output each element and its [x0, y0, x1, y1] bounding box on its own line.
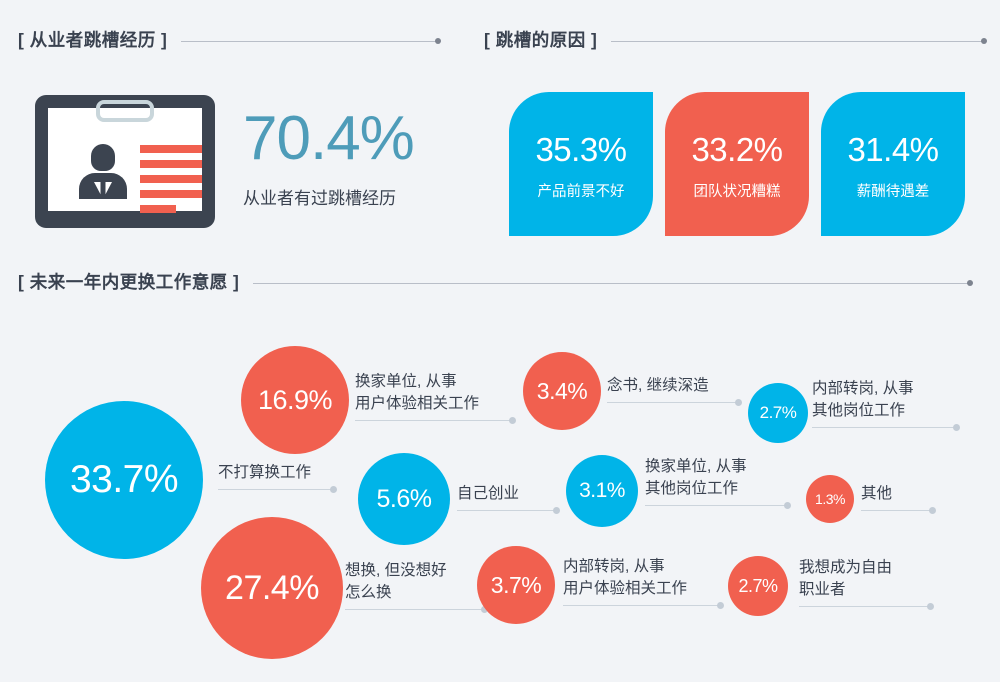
- section-header-employment-history: [ 从业者跳槽经历 ]: [18, 26, 438, 52]
- reason-card-label: 团队状况糟糕: [694, 180, 781, 201]
- bubble[interactable]: 3.4%: [523, 352, 601, 430]
- bubble-value: 27.4%: [225, 569, 319, 608]
- badge-clip: [96, 100, 154, 122]
- badge-card: [48, 108, 202, 211]
- bubble-label: 念书, 继续深造: [607, 375, 739, 403]
- bubble-value: 2.7%: [760, 403, 797, 423]
- reason-card-value: 35.3%: [535, 133, 626, 166]
- bubble-label-rule: [861, 510, 933, 511]
- badge-line: [140, 190, 202, 198]
- bubble-value: 3.1%: [579, 479, 625, 503]
- bubble-label-text: 换家单位, 从事 其他岗位工作: [645, 456, 788, 505]
- section-title: [ 未来一年内更换工作意愿 ]: [18, 269, 239, 294]
- bubble-label-text: 想换, 但没想好 怎么换: [345, 560, 485, 609]
- bubble-label-text: 念书, 继续深造: [607, 375, 739, 402]
- badge-line: [140, 175, 202, 183]
- bubble-label: 自己创业: [457, 483, 557, 511]
- section-title: [ 从业者跳槽经历 ]: [18, 27, 167, 52]
- bubble-value: 33.7%: [70, 458, 178, 502]
- bubble[interactable]: 27.4%: [201, 517, 343, 659]
- badge-line: [140, 205, 176, 213]
- bubble[interactable]: 3.1%: [566, 455, 638, 527]
- bubble-label-text: 我想成为自由 职业者: [799, 557, 931, 606]
- bubble[interactable]: 2.7%: [728, 556, 788, 616]
- bubble-label-text: 内部转岗, 从事 用户体验相关工作: [563, 556, 721, 605]
- bubble-label: 换家单位, 从事 其他岗位工作: [645, 456, 788, 506]
- headline-stat: 70.4% 从业者有过跳槽经历: [243, 108, 414, 209]
- bubble-label-text: 其他: [861, 483, 933, 510]
- header-rule: [611, 41, 984, 42]
- bubble[interactable]: 33.7%: [45, 401, 203, 559]
- bubble-label-rule: [799, 606, 931, 607]
- bubble-value: 16.9%: [258, 385, 332, 416]
- bubble[interactable]: 5.6%: [358, 453, 450, 545]
- headline-stat-value: 70.4%: [243, 108, 414, 170]
- badge-line: [140, 160, 202, 168]
- infographic-page: [ 从业者跳槽经历 ] [ 跳槽的原因 ]: [0, 0, 1000, 682]
- bubble-label-rule: [355, 420, 513, 421]
- person-silhouette-icon: [79, 144, 127, 199]
- bubble-label: 换家单位, 从事 用户体验相关工作: [355, 371, 513, 421]
- header-rule: [253, 283, 970, 284]
- bubble-label-text: 不打算换工作: [218, 462, 334, 489]
- reason-card[interactable]: 31.4%薪酬待遇差: [821, 92, 965, 236]
- headline-stat-caption: 从业者有过跳槽经历: [243, 184, 414, 209]
- bubble-label-rule: [218, 489, 334, 490]
- bubble-label-text: 换家单位, 从事 用户体验相关工作: [355, 371, 513, 420]
- bubble[interactable]: 3.7%: [477, 546, 555, 624]
- badge-text-lines: [140, 145, 202, 220]
- bubble-label-rule: [563, 605, 721, 606]
- bubble-value: 5.6%: [377, 485, 432, 514]
- bubble-label-rule: [607, 402, 739, 403]
- person-tie: [101, 182, 106, 199]
- bubble-label-text: 内部转岗, 从事 其他岗位工作: [812, 378, 957, 427]
- bubble-label-rule: [345, 609, 485, 610]
- reason-card-value: 31.4%: [847, 133, 938, 166]
- bubble-label: 内部转岗, 从事 其他岗位工作: [812, 378, 957, 428]
- bubble-label-rule: [812, 427, 957, 428]
- person-head: [91, 144, 115, 171]
- bubble-value: 3.4%: [537, 378, 587, 405]
- reason-card-label: 产品前景不好: [538, 180, 625, 201]
- bubble[interactable]: 2.7%: [748, 383, 808, 443]
- section-title: [ 跳槽的原因 ]: [484, 27, 597, 52]
- bubble-label: 其他: [861, 483, 933, 511]
- bubble-label: 想换, 但没想好 怎么换: [345, 560, 485, 610]
- bubble[interactable]: 1.3%: [806, 475, 854, 523]
- person-body: [79, 173, 127, 199]
- bubble-label-rule: [457, 510, 557, 511]
- header-rule: [181, 41, 438, 42]
- section-header-job-change-intention: [ 未来一年内更换工作意愿 ]: [18, 268, 970, 294]
- section-header-reasons: [ 跳槽的原因 ]: [484, 26, 984, 52]
- bubble-value: 3.7%: [491, 572, 541, 599]
- bubble-value: 1.3%: [815, 491, 845, 507]
- badge-line: [140, 145, 202, 153]
- bubble-label: 不打算换工作: [218, 462, 334, 490]
- bubble-label: 内部转岗, 从事 用户体验相关工作: [563, 556, 721, 606]
- bubble[interactable]: 16.9%: [241, 346, 349, 454]
- bubble-label: 我想成为自由 职业者: [799, 557, 931, 607]
- bubble-label-text: 自己创业: [457, 483, 557, 510]
- reason-card-label: 薪酬待遇差: [857, 180, 930, 201]
- reason-card[interactable]: 33.2%团队状况糟糕: [665, 92, 809, 236]
- id-badge-icon: [35, 95, 215, 228]
- bubble-label-rule: [645, 505, 788, 506]
- bubble-value: 2.7%: [738, 576, 777, 597]
- reason-card[interactable]: 35.3%产品前景不好: [509, 92, 653, 236]
- reason-card-value: 33.2%: [691, 133, 782, 166]
